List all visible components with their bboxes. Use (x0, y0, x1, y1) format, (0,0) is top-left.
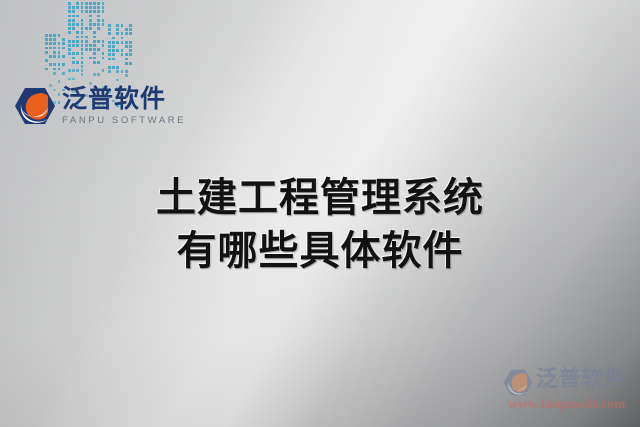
pixelated-building-skyline-graphic (34, 0, 146, 88)
fanpu-watermark-chinese-name: 泛普软件 (536, 367, 626, 393)
fanpu-logo-chinese-name: 泛普软件 (62, 85, 186, 113)
fanpu-watermark-url: www.fanpusoft.com (508, 396, 625, 412)
page-title-line-1: 土建工程管理系统 (0, 172, 640, 225)
fanpu-logo: 泛普软件 FANPU SOFTWARE (14, 85, 189, 133)
fanpu-logo-text: 泛普软件 FANPU SOFTWARE (62, 85, 186, 127)
fanpu-logo-english-name: FANPU SOFTWARE (62, 114, 186, 127)
fanpu-hexagon-logo-icon (14, 87, 56, 125)
page-title: 土建工程管理系统 有哪些具体软件 (0, 172, 640, 278)
poster-canvas: 泛普软件 FANPU SOFTWARE 土建工程管理系统 有哪些具体软件 泛普软… (0, 0, 640, 427)
fanpu-watermark-hexagon-logo-icon (503, 369, 533, 396)
page-title-line-2: 有哪些具体软件 (0, 225, 640, 278)
fanpu-watermark: 泛普软件 www.fanpusoft.com (503, 366, 640, 416)
